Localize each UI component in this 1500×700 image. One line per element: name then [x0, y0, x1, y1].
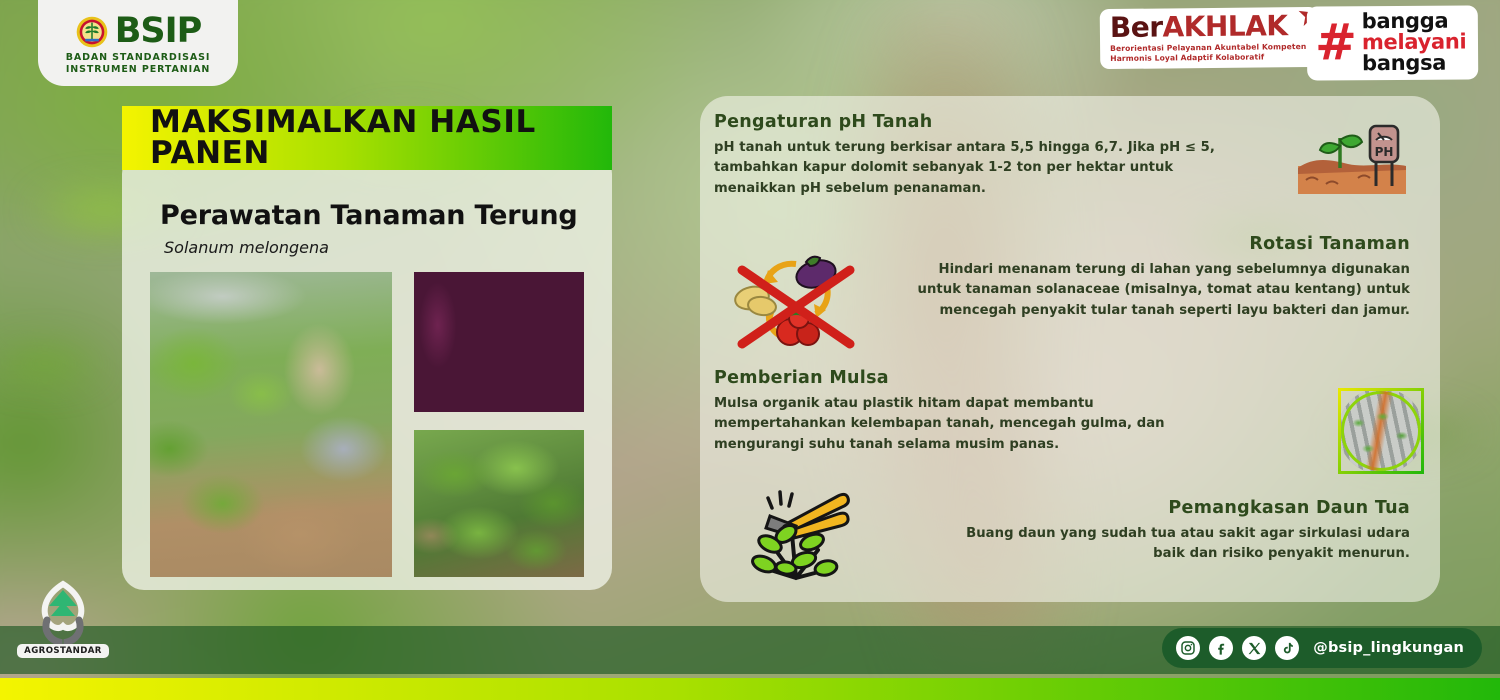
berakhlak-logo: BerAKHLAK➤ Berorientasi Pelayanan Akunta… [1099, 7, 1318, 69]
section-ph-body: pH tanah untuk terung berkisar antara 5,… [714, 138, 1254, 199]
section-mulsa-heading: Pemberian Mulsa [714, 368, 1214, 389]
bottom-accent-strip [0, 678, 1500, 700]
facebook-icon[interactable] [1209, 636, 1233, 660]
section-pemberian-mulsa: Pemberian Mulsa Mulsa organik atau plast… [714, 368, 1214, 455]
bsip-tagline-line1: BADAN STANDARDISASI [66, 52, 211, 64]
mulched-field-image [1338, 388, 1424, 474]
bsip-logo-plate: BSIP BADAN STANDARDISASI INSTRUMEN PERTA… [38, 0, 238, 86]
berakhlak-values-line2: Harmonis Loyal Adaptif Kolaboratif [1110, 52, 1306, 64]
eggplant-fruit-image [414, 272, 584, 412]
section-ph-heading: Pengaturan pH Tanah [714, 112, 1254, 133]
social-handle: @bsip_lingkungan [1313, 640, 1464, 656]
eggplant-leaf-image [414, 430, 584, 577]
eggplant-leaves-photo [414, 430, 584, 577]
pruning-shears-plant-icon [734, 476, 862, 582]
agrostandar-label: AGROSTANDAR [17, 644, 109, 658]
bsip-seal-icon [75, 15, 109, 49]
bsip-tagline-line2: INSTRUMEN PERTANIAN [66, 64, 211, 76]
section-rotasi-heading: Rotasi Tanaman [905, 234, 1410, 255]
bangga-melayani-bangsa-logo: # bangga melayani bangsa [1306, 5, 1478, 80]
hashtag-icon: # [1314, 22, 1356, 63]
section-rotasi-tanaman: Rotasi Tanaman Hindari menanam terung di… [905, 234, 1410, 321]
berakhlak-main: AKHLAK [1162, 9, 1287, 43]
instagram-icon[interactable] [1176, 636, 1200, 660]
berakhlak-wordmark: BerAKHLAK➤ [1109, 12, 1306, 42]
tiktok-icon[interactable] [1275, 636, 1299, 660]
section-pemangkasan-body: Buang daun yang sudah tua atau sakit aga… [960, 524, 1410, 565]
section-ph-tanah: Pengaturan pH Tanah pH tanah untuk terun… [714, 112, 1254, 199]
section-pemangkasan-heading: Pemangkasan Daun Tua [960, 498, 1410, 519]
svg-text:PH: PH [1375, 145, 1394, 159]
agrostandar-logo: AGROSTANDAR [26, 580, 100, 670]
latin-name: Solanum melongena [164, 238, 329, 257]
crop-rotation-prohibited-icon [722, 248, 874, 358]
title-banner: MAKSIMALKAN HASIL PANEN [122, 106, 612, 170]
harvested-eggplant-photo [414, 272, 584, 412]
social-media-bar[interactable]: @bsip_lingkungan [1162, 628, 1482, 668]
bsip-logo-row: BSIP [75, 14, 202, 49]
page-title: MAKSIMALKAN HASIL PANEN [150, 107, 612, 169]
bsip-tagline: BADAN STANDARDISASI INSTRUMEN PERTANIAN [66, 52, 211, 76]
subtitle-heading: Perawatan Tanaman Terung [160, 200, 578, 231]
ph-meter-soil-seedling-icon: PH [1296, 104, 1408, 196]
berakhlak-prefix: Ber [1109, 10, 1162, 44]
mulched-field-photo-icon [1338, 388, 1424, 474]
bsip-wordmark: BSIP [115, 14, 202, 49]
section-pemangkasan-daun-tua: Pemangkasan Daun Tua Buang daun yang sud… [960, 498, 1410, 565]
farmer-photo-image [150, 272, 392, 577]
section-mulsa-body: Mulsa organik atau plastik hitam dapat m… [714, 394, 1214, 455]
farmer-tending-eggplant-photo [150, 272, 392, 577]
x-twitter-icon[interactable] [1242, 636, 1266, 660]
bangga-word-3: bangsa [1362, 52, 1467, 74]
agrostandar-leaf-icon [29, 580, 97, 652]
berakhlak-values: Berorientasi Pelayanan Akuntabel Kompete… [1110, 42, 1306, 64]
section-rotasi-body: Hindari menanam terung di lahan yang seb… [905, 260, 1410, 321]
bangga-wordmark: bangga melayani bangsa [1361, 10, 1466, 74]
